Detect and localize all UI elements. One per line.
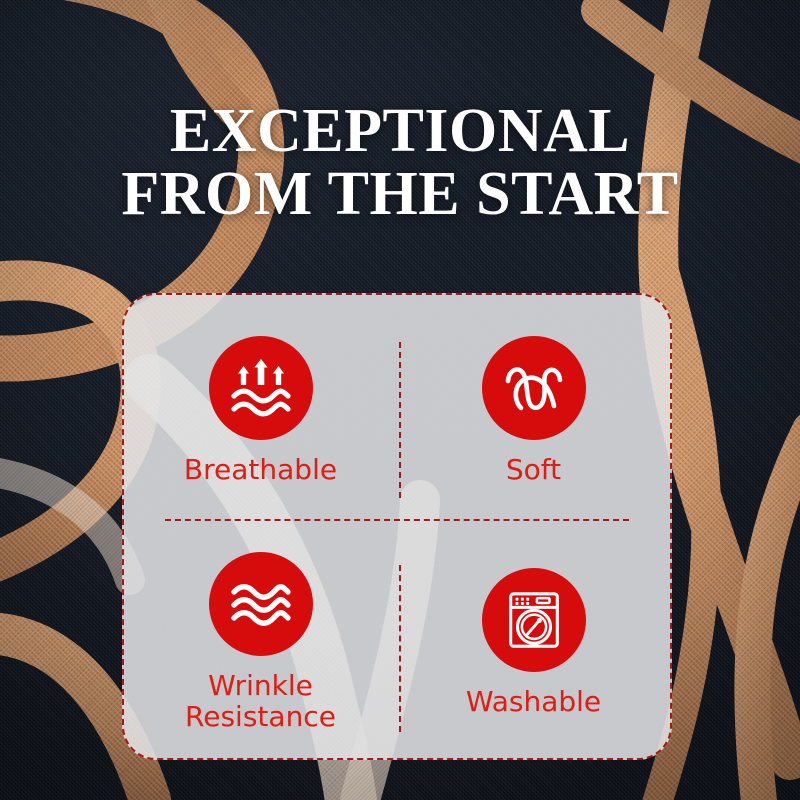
divider-vertical-bottom [399,565,401,732]
washing-machine-icon [500,586,568,654]
soft-badge [482,336,586,440]
divider-vertical-top [399,342,401,498]
feature-label-breathable: Breathable [184,454,337,485]
breathable-badge [209,336,313,440]
page-title: EXCEPTIONAL FROM THE START [0,100,800,228]
soft-squiggle-icon [499,353,569,423]
feature-item-soft[interactable]: Soft [397,295,670,527]
product-feature-banner: EXCEPTIONAL FROM THE START [0,0,800,800]
headline-line-1: EXCEPTIONAL [0,100,800,164]
wrinkle-waves-icon [226,569,296,639]
feature-item-washable[interactable]: Washable [397,527,670,759]
feature-item-wrinkle-resistance[interactable]: Wrinkle Resistance [124,527,397,759]
feature-label-washable: Washable [466,686,601,717]
wrinkle-resistance-badge [209,552,313,656]
feature-item-breathable[interactable]: Breathable [124,295,397,527]
washable-badge [482,568,586,672]
feature-label-wrinkle-resistance: Wrinkle Resistance [185,670,336,733]
breathable-arrows-waves-icon [226,353,296,423]
divider-horizontal [165,519,629,521]
feature-panel: Breathable Soft [122,293,672,760]
headline-line-2: FROM THE START [0,163,800,227]
feature-label-soft: Soft [506,454,561,485]
